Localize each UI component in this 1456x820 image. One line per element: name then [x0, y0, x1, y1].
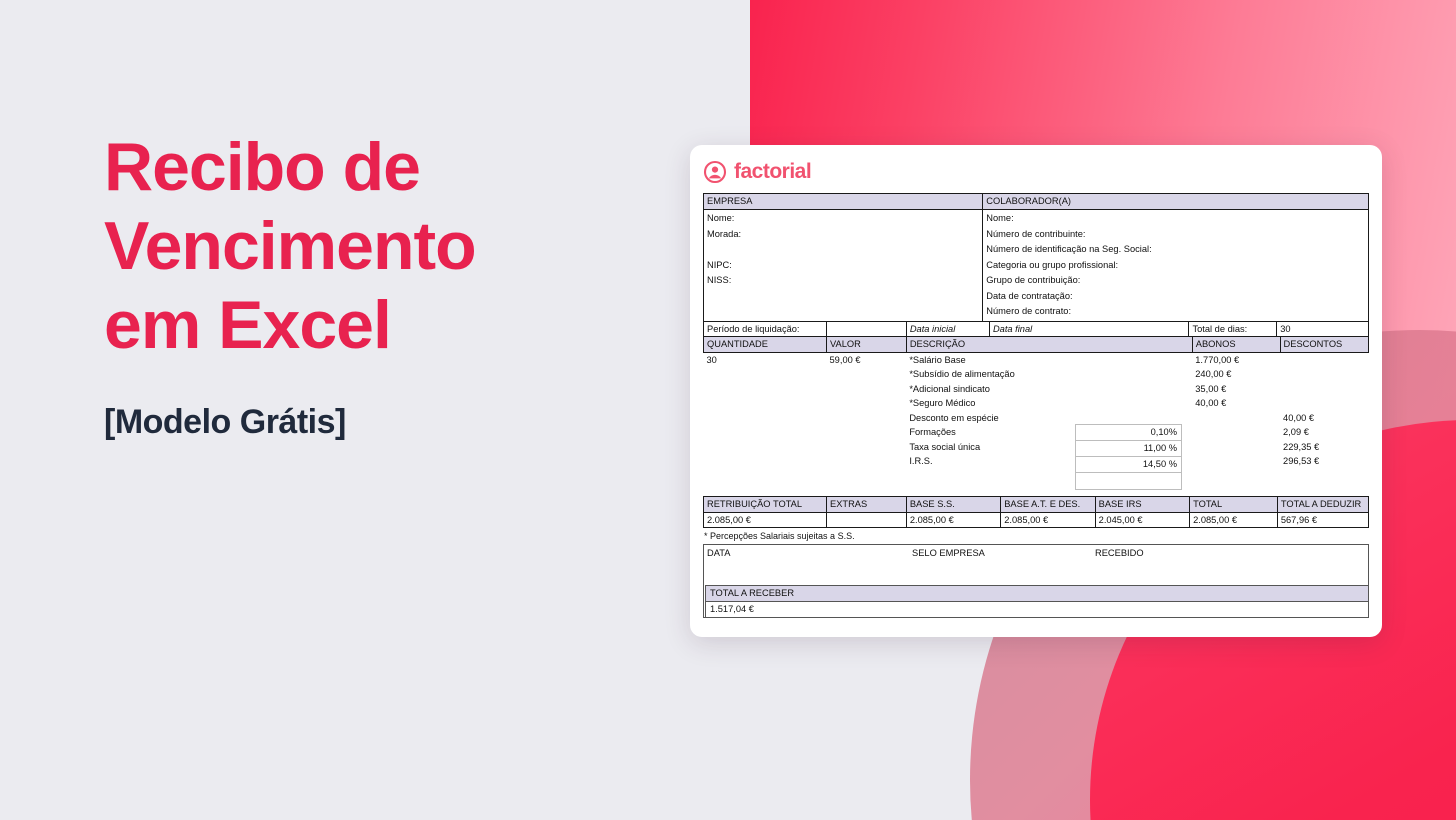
pct-empty-input[interactable]	[1076, 473, 1181, 489]
cell-descricao: *Subsídio de alimentação	[906, 367, 1192, 382]
cell-descontos: 296,53 €	[1280, 454, 1368, 469]
company-field	[707, 289, 979, 305]
table-row: *Subsídio de alimentação 240,00 €	[704, 367, 1369, 382]
cell-valor	[827, 411, 907, 426]
headline-line-1: Recibo de	[104, 128, 664, 207]
headline-line-3: em Excel	[104, 286, 664, 365]
table-row: 30 59,00 € *Salário Base 1.770,00 €	[704, 352, 1369, 367]
totals-table: RETRIBUIÇÃO TOTAL EXTRAS BASE S.S. BASE …	[703, 496, 1369, 528]
cell-valor: 59,00 €	[827, 352, 907, 367]
cell-descricao: *Salário Base	[906, 352, 1192, 367]
cell-descricao: *Adicional sindicato	[906, 382, 1192, 397]
table-row: Formações 2,09 €	[704, 425, 1369, 440]
party-info-table: EMPRESA COLABORADOR(A) Nome: Morada: NIP…	[703, 193, 1369, 322]
cell-abonos	[1192, 440, 1280, 455]
totals-value-extras	[827, 512, 907, 528]
cell-abonos: 40,00 €	[1192, 396, 1280, 411]
employee-header: COLABORADOR(A)	[983, 194, 1369, 210]
period-start-label: Data inicial	[906, 321, 989, 337]
cell-descricao: *Seguro Médico	[906, 396, 1192, 411]
employee-field: Grupo de contribuição:	[986, 273, 1365, 289]
cell-abonos: 240,00 €	[1192, 367, 1280, 382]
total-days-value: 30	[1277, 321, 1369, 337]
percentage-input-group[interactable]: 0,10% 11,00 % 14,50 %	[1075, 424, 1182, 490]
period-row-table: Período de liquidação: Data inicial Data…	[703, 321, 1369, 338]
totals-header-deduzir: TOTAL A DEDUZIR	[1277, 496, 1368, 512]
employee-field: Número de identificação na Seg. Social:	[986, 242, 1365, 258]
cell-descontos	[1280, 396, 1368, 411]
col-header-abonos: ABONOS	[1192, 337, 1280, 353]
totals-header-extras: EXTRAS	[827, 496, 907, 512]
totals-header-total: TOTAL	[1190, 496, 1278, 512]
company-field	[707, 304, 979, 320]
totals-value-total: 2.085,00 €	[1190, 512, 1278, 528]
company-header: EMPRESA	[704, 194, 983, 210]
cell-abonos	[1192, 425, 1280, 440]
footnote-text: * Percepções Salariais sujeitas a S.S.	[703, 528, 1369, 544]
table-row: Taxa social única 229,35 €	[704, 440, 1369, 455]
company-field: Nome:	[707, 211, 979, 227]
table-row: *Seguro Médico 40,00 €	[704, 396, 1369, 411]
net-total-table: TOTAL A RECEBER 1.517,04 €	[705, 585, 1369, 618]
period-end-label: Data final	[989, 321, 1189, 337]
employee-field: Número de contrato:	[986, 304, 1365, 320]
employee-field: Data de contratação:	[986, 289, 1365, 305]
table-row	[704, 469, 1369, 497]
payslip-document-card: factorial EMPRESA COLABORADOR(A) Nome: M…	[690, 145, 1382, 637]
cell-abonos: 1.770,00 €	[1192, 352, 1280, 367]
col-header-descontos: DESCONTOS	[1280, 337, 1368, 353]
cell-descontos	[1280, 352, 1368, 367]
table-row: *Adicional sindicato 35,00 €	[704, 382, 1369, 397]
company-fields-cell: Nome: Morada: NIPC: NISS:	[704, 210, 983, 322]
totals-value-deduzir: 567,96 €	[1277, 512, 1368, 528]
company-field: Morada:	[707, 227, 979, 243]
factorial-wordmark: factorial	[734, 160, 811, 184]
totals-header-base-ss: BASE S.S.	[906, 496, 1000, 512]
cell-valor	[827, 425, 907, 440]
col-header-quantidade: QUANTIDADE	[704, 337, 827, 353]
cell-descontos: 40,00 €	[1280, 411, 1368, 426]
totals-header-retribuicao: RETRIBUIÇÃO TOTAL	[704, 496, 827, 512]
salary-lines-wrap: QUANTIDADE VALOR DESCRIÇÃO ABONOS DESCON…	[703, 336, 1369, 497]
stamp-label: SELO EMPRESA	[912, 547, 985, 560]
totals-header-base-irs: BASE IRS	[1095, 496, 1189, 512]
totals-value-base-irs: 2.045,00 €	[1095, 512, 1189, 528]
factorial-person-circle-icon	[703, 160, 727, 184]
totals-value-retribuicao: 2.085,00 €	[704, 512, 827, 528]
table-row: I.R.S. 296,53 €	[704, 454, 1369, 469]
cell-quantidade	[704, 367, 827, 382]
employee-field: Categoria ou grupo profissional:	[986, 258, 1365, 274]
cell-abonos	[1192, 411, 1280, 426]
cell-descontos: 2,09 €	[1280, 425, 1368, 440]
pct-irs-input[interactable]: 14,50 %	[1076, 457, 1181, 473]
cell-descontos	[1280, 382, 1368, 397]
pct-formacoes-input[interactable]: 0,10%	[1076, 425, 1181, 441]
cell-descontos	[1280, 469, 1368, 497]
cell-quantidade	[704, 469, 827, 497]
company-field: NISS:	[707, 273, 979, 289]
cell-quantidade	[704, 382, 827, 397]
col-header-valor: VALOR	[827, 337, 907, 353]
cell-abonos: 35,00 €	[1192, 382, 1280, 397]
factorial-logo: factorial	[690, 157, 1382, 192]
cell-abonos	[1192, 454, 1280, 469]
total-days-label: Total de dias:	[1189, 321, 1277, 337]
salary-lines-table: QUANTIDADE VALOR DESCRIÇÃO ABONOS DESCON…	[703, 336, 1369, 497]
employee-field: Nome:	[986, 211, 1365, 227]
payslip-spreadsheet: EMPRESA COLABORADOR(A) Nome: Morada: NIP…	[703, 193, 1369, 618]
cell-descontos: 229,35 €	[1280, 440, 1368, 455]
signature-area: DATA SELO EMPRESA RECEBIDO TOTAL A RECEB…	[703, 544, 1369, 618]
cell-valor	[827, 469, 907, 497]
totals-value-base-ss: 2.085,00 €	[906, 512, 1000, 528]
period-label: Período de liquidação:	[704, 321, 827, 337]
headline-subtitle: [Modelo Grátis]	[104, 403, 664, 442]
employee-field: Número de contribuinte:	[986, 227, 1365, 243]
cell-valor	[827, 382, 907, 397]
cell-valor	[827, 396, 907, 411]
net-total-label: TOTAL A RECEBER	[706, 586, 1369, 602]
totals-value-base-at: 2.085,00 €	[1001, 512, 1095, 528]
cell-quantidade	[704, 411, 827, 426]
pct-tsu-input[interactable]: 11,00 %	[1076, 441, 1181, 457]
table-row: 2.085,00 € 2.085,00 € 2.085,00 € 2.045,0…	[704, 512, 1369, 528]
net-total-value: 1.517,04 €	[706, 602, 1369, 618]
cell-abonos	[1192, 469, 1280, 497]
company-field	[707, 242, 979, 258]
cell-quantidade	[704, 425, 827, 440]
totals-header-base-at: BASE A.T. E DES.	[1001, 496, 1095, 512]
table-row: Desconto em espécie 40,00 €	[704, 411, 1369, 426]
cell-quantidade	[704, 454, 827, 469]
date-label: DATA	[707, 547, 730, 560]
employee-fields-cell: Nome: Número de contribuinte: Número de …	[983, 210, 1369, 322]
cell-quantidade	[704, 440, 827, 455]
received-label: RECEBIDO	[1095, 547, 1144, 560]
cell-valor	[827, 440, 907, 455]
cell-valor	[827, 367, 907, 382]
col-header-descricao: DESCRIÇÃO	[906, 337, 1192, 353]
company-field: NIPC:	[707, 258, 979, 274]
cell-quantidade	[704, 396, 827, 411]
headline-line-2: Vencimento	[104, 207, 664, 286]
cell-quantidade: 30	[704, 352, 827, 367]
headline-block: Recibo de Vencimento em Excel [Modelo Gr…	[104, 128, 664, 442]
cell-descontos	[1280, 367, 1368, 382]
period-blank	[827, 321, 907, 337]
cell-valor	[827, 454, 907, 469]
